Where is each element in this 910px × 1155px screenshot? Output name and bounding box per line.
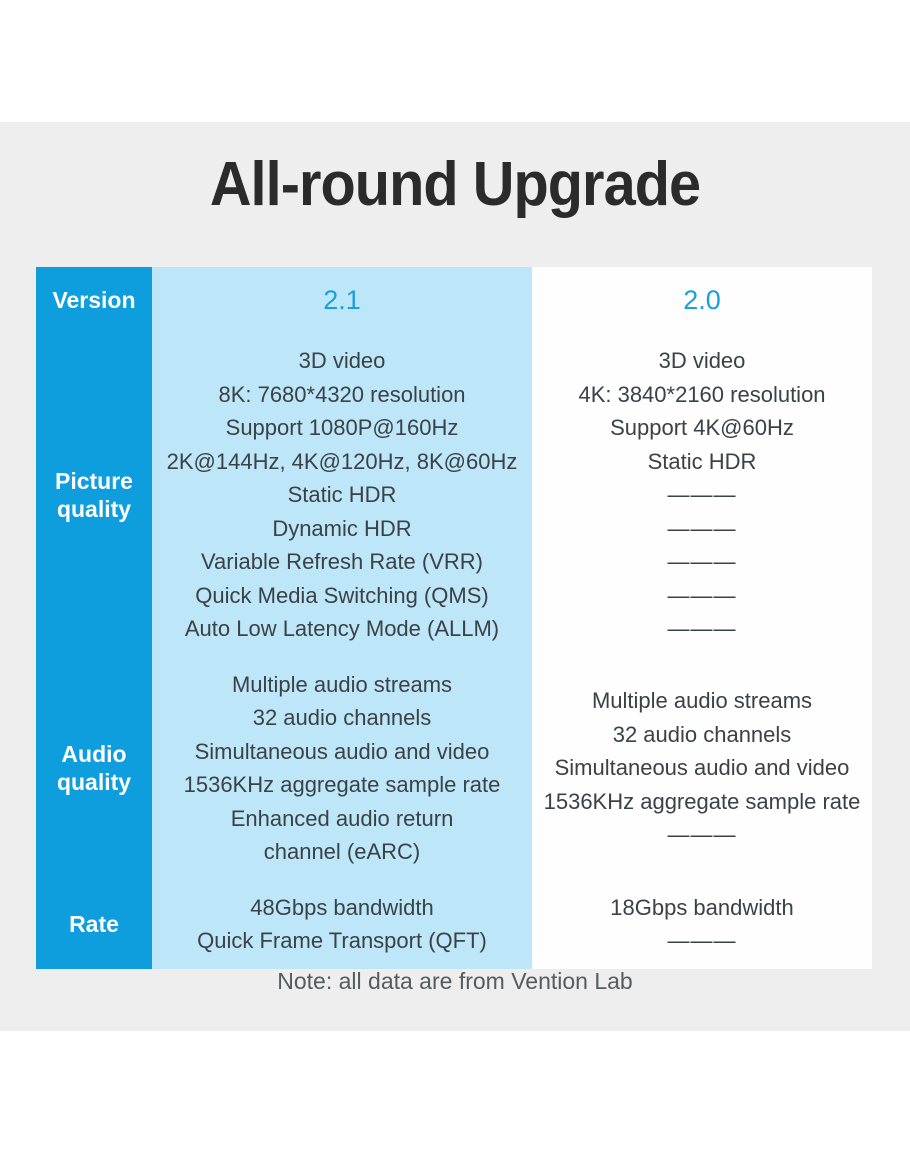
feature-line: Enhanced audio return bbox=[160, 802, 524, 836]
cell-rate-v20: 18Gbps bandwidth ——— bbox=[532, 880, 872, 969]
header-cell-version: Version bbox=[36, 267, 152, 333]
header-cell-v20: 2.0 bbox=[532, 267, 872, 333]
feature-list: Multiple audio streams 32 audio channels… bbox=[152, 657, 532, 880]
row-label-line: quality bbox=[36, 768, 152, 796]
cell-audio-quality-v20: Multiple audio streams 32 audio channels… bbox=[532, 657, 872, 880]
feature-line: 32 audio channels bbox=[540, 718, 864, 752]
table-body: Version 2.1 2.0 Picture quality 3D video… bbox=[36, 267, 872, 969]
feature-line: 8K: 7680*4320 resolution bbox=[160, 378, 524, 412]
table-row: Audio quality Multiple audio streams 32 … bbox=[36, 657, 872, 880]
row-label-line: Picture bbox=[36, 467, 152, 495]
row-label-audio-quality: Audio quality bbox=[36, 657, 152, 880]
row-label-line: quality bbox=[36, 495, 152, 523]
feature-line: 1536KHz aggregate sample rate bbox=[540, 785, 864, 819]
table-header-row: Version 2.1 2.0 bbox=[36, 267, 872, 333]
comparison-page: All-round Upgrade Version 2.1 2.0 Pictur… bbox=[0, 0, 910, 1155]
page-title: All-round Upgrade bbox=[32, 150, 878, 220]
feature-list: 3D video 8K: 7680*4320 resolution Suppor… bbox=[152, 333, 532, 657]
feature-line: Dynamic HDR bbox=[160, 512, 524, 546]
feature-line: Static HDR bbox=[160, 478, 524, 512]
feature-list: 48Gbps bandwidth Quick Frame Transport (… bbox=[152, 880, 532, 969]
not-supported-dash: ——— bbox=[540, 818, 864, 852]
feature-line: channel (eARC) bbox=[160, 835, 524, 869]
feature-line: Multiple audio streams bbox=[540, 684, 864, 718]
footnote: Note: all data are from Vention Lab bbox=[0, 966, 910, 996]
feature-line: Simultaneous audio and video bbox=[160, 735, 524, 769]
feature-line: Quick Frame Transport (QFT) bbox=[160, 924, 524, 958]
feature-line: 1536KHz aggregate sample rate bbox=[160, 768, 524, 802]
not-supported-dash: ——— bbox=[540, 478, 864, 512]
feature-list: Multiple audio streams 32 audio channels… bbox=[532, 673, 872, 863]
not-supported-dash: ——— bbox=[540, 512, 864, 546]
feature-line: Auto Low Latency Mode (ALLM) bbox=[160, 612, 524, 646]
feature-line: 4K: 3840*2160 resolution bbox=[540, 378, 864, 412]
feature-line: Support 1080P@160Hz bbox=[160, 411, 524, 445]
cell-picture-quality-v21: 3D video 8K: 7680*4320 resolution Suppor… bbox=[152, 333, 532, 657]
not-supported-dash: ——— bbox=[540, 545, 864, 579]
feature-line: Multiple audio streams bbox=[160, 668, 524, 702]
version-comparison-table: Version 2.1 2.0 Picture quality 3D video… bbox=[36, 267, 872, 969]
feature-line: Support 4K@60Hz bbox=[540, 411, 864, 445]
feature-line: Variable Refresh Rate (VRR) bbox=[160, 545, 524, 579]
feature-line: Simultaneous audio and video bbox=[540, 751, 864, 785]
version-21-label: 2.1 bbox=[323, 285, 361, 315]
feature-line: Static HDR bbox=[540, 445, 864, 479]
feature-line: 48Gbps bandwidth bbox=[160, 891, 524, 925]
feature-list: 18Gbps bandwidth ——— bbox=[532, 880, 872, 969]
feature-line: 2K@144Hz, 4K@120Hz, 8K@60Hz bbox=[160, 445, 524, 479]
row-label-picture-quality: Picture quality bbox=[36, 333, 152, 657]
feature-line: Quick Media Switching (QMS) bbox=[160, 579, 524, 613]
not-supported-dash: ——— bbox=[540, 924, 864, 958]
feature-line: 3D video bbox=[160, 344, 524, 378]
version-20-label: 2.0 bbox=[683, 285, 721, 315]
row-label-line: Audio bbox=[36, 740, 152, 768]
table-row: Rate 48Gbps bandwidth Quick Frame Transp… bbox=[36, 880, 872, 969]
not-supported-dash: ——— bbox=[540, 579, 864, 613]
feature-line: 3D video bbox=[540, 344, 864, 378]
not-supported-dash: ——— bbox=[540, 612, 864, 646]
cell-picture-quality-v20: 3D video 4K: 3840*2160 resolution Suppor… bbox=[532, 333, 872, 657]
cell-audio-quality-v21: Multiple audio streams 32 audio channels… bbox=[152, 657, 532, 880]
feature-line: 32 audio channels bbox=[160, 701, 524, 735]
feature-line: 18Gbps bandwidth bbox=[540, 891, 864, 925]
row-label-line: Rate bbox=[36, 910, 152, 938]
cell-rate-v21: 48Gbps bandwidth Quick Frame Transport (… bbox=[152, 880, 532, 969]
row-label-rate: Rate bbox=[36, 880, 152, 969]
table-row: Picture quality 3D video 8K: 7680*4320 r… bbox=[36, 333, 872, 657]
feature-list: 3D video 4K: 3840*2160 resolution Suppor… bbox=[532, 333, 872, 657]
header-cell-v21: 2.1 bbox=[152, 267, 532, 333]
